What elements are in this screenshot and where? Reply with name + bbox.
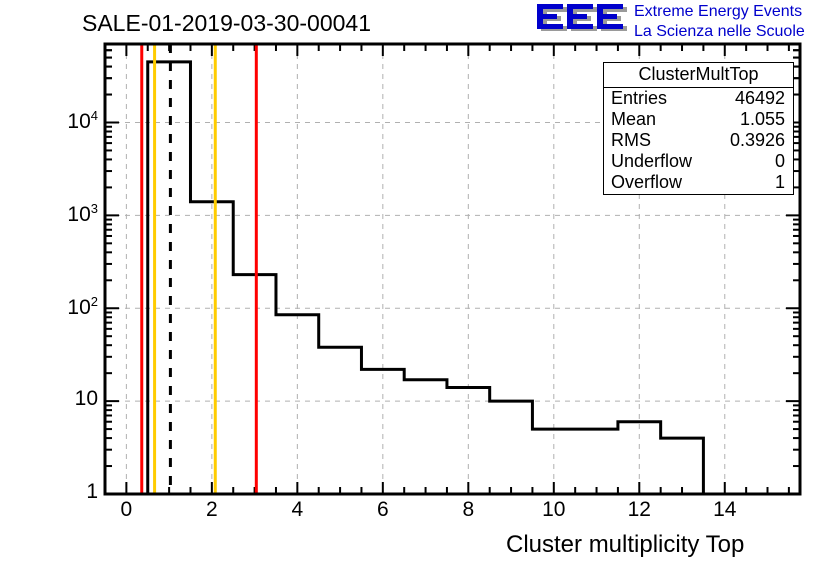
stats-key: RMS (611, 130, 651, 151)
y-axis-tick-label: 102 (0, 294, 98, 320)
stats-rows: Entries46492Mean1.055RMS0.3926Underflow0… (604, 88, 793, 193)
stats-value: 0 (775, 151, 785, 172)
x-axis-tick-label: 8 (438, 498, 498, 522)
stats-row: Overflow1 (604, 172, 793, 193)
y-axis-tick-label: 104 (0, 108, 98, 134)
stats-box: ClusterMultTop Entries46492Mean1.055RMS0… (603, 62, 794, 195)
y-axis-tick-label: 10 (0, 387, 98, 411)
stats-row: RMS0.3926 (604, 130, 793, 151)
x-axis-tick-label: 6 (353, 498, 413, 522)
y-axis-tick-label: 1 (0, 480, 98, 504)
y-axis-tick-label: 103 (0, 201, 98, 227)
stats-value: 1.055 (740, 109, 785, 130)
x-axis-tick-label: 14 (695, 498, 755, 522)
stats-title: ClusterMultTop (604, 63, 793, 88)
stats-key: Overflow (611, 172, 682, 193)
stats-row: Underflow0 (604, 151, 793, 172)
x-axis-labels: 02468101214 (0, 498, 836, 528)
x-axis-tick-label: 2 (182, 498, 242, 522)
stats-row: Entries46492 (604, 88, 793, 109)
stats-row: Mean1.055 (604, 109, 793, 130)
stats-key: Entries (611, 88, 667, 109)
stats-value: 0.3926 (730, 130, 785, 151)
x-axis-tick-label: 12 (609, 498, 669, 522)
stats-key: Underflow (611, 151, 692, 172)
x-axis-title: Cluster multiplicity Top (506, 531, 744, 559)
x-axis-tick-label: 4 (267, 498, 327, 522)
x-axis-tick-label: 0 (96, 498, 156, 522)
stats-value: 46492 (735, 88, 785, 109)
stats-value: 1 (775, 172, 785, 193)
x-axis-tick-label: 10 (524, 498, 584, 522)
stats-key: Mean (611, 109, 656, 130)
